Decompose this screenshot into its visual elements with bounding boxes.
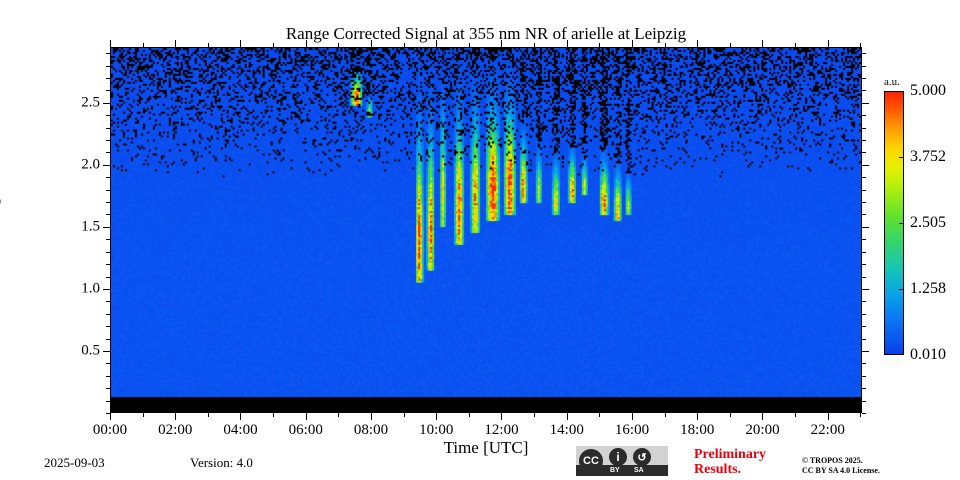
y-tick-mark-right	[862, 376, 866, 377]
x-tick-mark-top	[240, 40, 241, 47]
colorbar-tick-mark	[899, 289, 904, 290]
cc-by-icon: i	[609, 448, 627, 466]
y-tick-mark	[106, 363, 110, 364]
cc-sa-icon: ↺	[633, 448, 651, 466]
preliminary-results-notice: Preliminary Results.	[694, 447, 804, 477]
colorbar-tick-label: 5.000	[910, 83, 946, 99]
x-tick-mark	[338, 413, 339, 417]
y-tick-mark	[106, 78, 110, 79]
y-tick-label: 1.5	[62, 219, 100, 234]
y-tick-mark-right	[862, 90, 866, 91]
y-tick-mark-right	[862, 277, 866, 278]
y-tick-mark-right	[862, 190, 866, 191]
x-tick-mark	[240, 413, 241, 420]
x-tick-mark	[501, 413, 502, 420]
y-tick-mark	[106, 388, 110, 389]
footer-version: Version: 4.0	[190, 455, 253, 471]
y-tick-mark	[103, 227, 110, 228]
y-tick-mark-right	[862, 351, 869, 352]
x-tick-mark	[567, 413, 568, 420]
y-tick-mark-right	[862, 413, 866, 414]
copyright-notice: © TROPOS 2025. CC BY SA 4.0 License.	[802, 456, 952, 476]
y-tick-mark	[106, 190, 110, 191]
x-tick-label: 18:00	[680, 423, 714, 438]
y-tick-mark	[106, 376, 110, 377]
y-tick-mark-right	[862, 289, 869, 290]
y-tick-mark	[106, 239, 110, 240]
y-tick-label: 2.5	[62, 95, 100, 110]
x-tick-label: 02:00	[158, 423, 192, 438]
y-tick-mark	[103, 103, 110, 104]
y-tick-mark	[106, 66, 110, 67]
x-tick-mark	[143, 413, 144, 417]
y-tick-mark	[103, 351, 110, 352]
x-tick-mark-top	[632, 40, 633, 47]
copyright-line-2: CC BY SA 4.0 License.	[802, 466, 952, 476]
x-tick-label: 08:00	[354, 423, 388, 438]
y-tick-mark-right	[862, 326, 866, 327]
y-tick-mark-right	[862, 239, 866, 240]
heatmap-canvas	[111, 48, 861, 412]
colorbar-tick-label: 1.258	[910, 281, 946, 297]
y-tick-mark	[106, 413, 110, 414]
x-tick-mark	[306, 413, 307, 420]
x-tick-mark-top	[828, 40, 829, 47]
y-tick-mark-right	[862, 388, 866, 389]
x-tick-mark	[795, 413, 796, 417]
cc-logo-icon: CC	[579, 449, 603, 473]
y-tick-mark	[106, 264, 110, 265]
cc-by-sa-badge-icon: CC i ↺ BY SA	[576, 446, 668, 476]
x-tick-mark-top	[306, 40, 307, 47]
x-tick-mark-top	[567, 40, 568, 47]
y-tick-mark-right	[862, 53, 866, 54]
y-tick-mark-right	[862, 66, 866, 67]
x-tick-label: 00:00	[93, 423, 127, 438]
x-tick-mark	[469, 413, 470, 417]
x-tick-mark-top	[599, 43, 600, 47]
copyright-line-1: © TROPOS 2025.	[802, 456, 952, 466]
x-tick-mark-top	[697, 40, 698, 47]
plot-area	[110, 47, 862, 413]
y-tick-mark-right	[862, 363, 866, 364]
x-tick-mark-top	[110, 40, 111, 47]
lidar-quicklook-figure: Range Corrected Signal at 355 nm NR of a…	[0, 0, 960, 480]
y-tick-mark	[106, 252, 110, 253]
x-tick-mark	[828, 413, 829, 420]
x-tick-mark	[534, 413, 535, 417]
y-tick-mark-right	[862, 140, 866, 141]
x-tick-mark-top	[860, 43, 861, 47]
y-tick-mark-right	[862, 152, 866, 153]
y-tick-mark	[106, 140, 110, 141]
x-tick-label: 16:00	[615, 423, 649, 438]
y-tick-mark-right	[862, 339, 866, 340]
x-tick-mark	[697, 413, 698, 420]
x-tick-mark-top	[730, 43, 731, 47]
x-tick-label: 04:00	[223, 423, 257, 438]
footer-date: 2025-09-03	[44, 455, 105, 471]
y-tick-mark	[106, 314, 110, 315]
x-tick-mark	[665, 413, 666, 417]
y-tick-mark-right	[862, 128, 866, 129]
y-tick-mark	[103, 289, 110, 290]
x-tick-mark-top	[175, 40, 176, 47]
y-tick-mark	[106, 277, 110, 278]
colorbar-tick-label: 0.010	[910, 347, 946, 363]
y-tick-mark-right	[862, 202, 866, 203]
y-tick-mark	[106, 152, 110, 153]
y-tick-mark	[106, 301, 110, 302]
y-tick-mark-right	[862, 401, 866, 402]
y-tick-mark-right	[862, 227, 869, 228]
y-tick-mark	[106, 326, 110, 327]
y-tick-mark	[103, 165, 110, 166]
x-tick-mark-top	[501, 40, 502, 47]
y-tick-mark	[106, 115, 110, 116]
y-tick-label: 1.0	[62, 281, 100, 296]
x-tick-mark	[404, 413, 405, 417]
x-tick-mark-top	[469, 43, 470, 47]
x-tick-label: 22:00	[811, 423, 845, 438]
x-tick-label: 06:00	[289, 423, 323, 438]
y-tick-mark	[106, 202, 110, 203]
figure-title: Range Corrected Signal at 355 nm NR of a…	[110, 24, 862, 44]
y-tick-mark	[106, 90, 110, 91]
colorbar-tick-mark	[899, 223, 904, 224]
y-tick-mark	[106, 128, 110, 129]
x-tick-mark-top	[143, 43, 144, 47]
x-tick-mark	[175, 413, 176, 420]
x-tick-mark	[436, 413, 437, 420]
x-tick-mark-top	[665, 43, 666, 47]
y-tick-mark-right	[862, 103, 869, 104]
colorbar-tick-mark	[899, 157, 904, 158]
x-tick-label: 10:00	[419, 423, 453, 438]
y-tick-mark-right	[862, 314, 866, 315]
x-tick-mark-top	[436, 40, 437, 47]
y-tick-label: 0.5	[62, 343, 100, 358]
x-tick-mark-top	[371, 40, 372, 47]
y-tick-mark-right	[862, 115, 866, 116]
x-tick-mark	[730, 413, 731, 417]
y-axis-title: Height [km]	[0, 146, 2, 230]
y-tick-mark	[106, 339, 110, 340]
cc-by-label: BY	[610, 465, 620, 476]
x-tick-mark	[110, 413, 111, 420]
x-tick-mark-top	[795, 43, 796, 47]
x-tick-mark-top	[404, 43, 405, 47]
x-tick-mark	[632, 413, 633, 420]
x-tick-mark-top	[208, 43, 209, 47]
x-tick-mark-top	[762, 40, 763, 47]
x-tick-mark	[371, 413, 372, 420]
y-tick-mark-right	[862, 177, 866, 178]
x-tick-label: 12:00	[484, 423, 518, 438]
x-tick-mark-top	[338, 43, 339, 47]
colorbar-unit-label: a.u.	[884, 76, 900, 88]
x-tick-mark-top	[273, 43, 274, 47]
y-tick-mark	[106, 214, 110, 215]
x-tick-mark	[273, 413, 274, 417]
colorbar-tick-label: 2.505	[910, 215, 946, 231]
colorbar-tick-label: 3.752	[910, 149, 946, 165]
x-tick-mark	[208, 413, 209, 417]
y-tick-mark-right	[862, 301, 866, 302]
y-tick-mark-right	[862, 78, 866, 79]
x-tick-label: 14:00	[550, 423, 584, 438]
y-tick-mark	[106, 401, 110, 402]
y-tick-label: 2.0	[62, 157, 100, 172]
y-tick-mark	[106, 177, 110, 178]
y-tick-mark-right	[862, 264, 866, 265]
x-tick-mark-top	[534, 43, 535, 47]
y-tick-mark-right	[862, 252, 866, 253]
y-tick-mark-right	[862, 165, 869, 166]
x-tick-label: 20:00	[745, 423, 779, 438]
cc-sa-label: SA	[634, 465, 644, 476]
y-tick-mark-right	[862, 214, 866, 215]
x-tick-mark	[599, 413, 600, 417]
x-tick-mark	[762, 413, 763, 420]
y-tick-mark	[106, 53, 110, 54]
